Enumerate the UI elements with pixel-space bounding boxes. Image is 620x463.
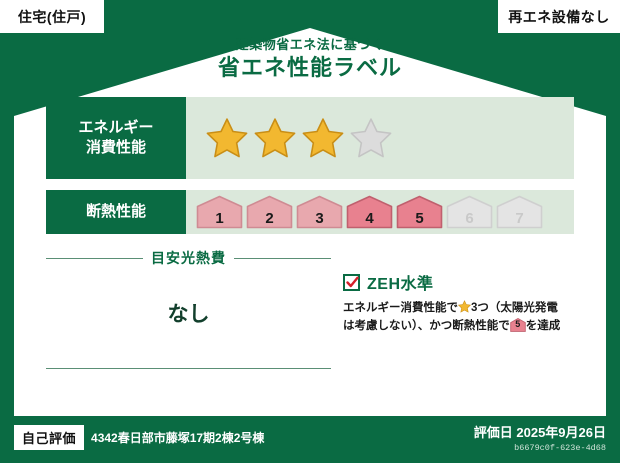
insulation-level-number: 4 <box>346 210 393 227</box>
inline-insulation-badge: 5 <box>510 318 526 332</box>
lower-section: 目安光熱費 なし ZEH水準 エネルギー消費性能で 3つ（太陽光発電 <box>46 248 574 369</box>
evaluation-date: 評価日 2025年9月26日 <box>474 422 606 441</box>
divider-line-right <box>234 258 331 259</box>
zeh-description: エネルギー消費性能で 3つ（太陽光発電 は考慮しない）、かつ断熱性能で 5を達成 <box>343 300 574 336</box>
zeh-desc-part3: を達成 <box>526 320 561 332</box>
insulation-level-number: 5 <box>396 210 443 227</box>
star-filled-icon <box>206 117 248 159</box>
zeh-title: ZEH水準 <box>367 270 434 294</box>
self-evaluation-badge: 自己評価 <box>14 425 84 450</box>
property-address: 4342春日部市藤塚17期2棟2号棟 <box>91 429 264 446</box>
energy-performance-row: エネルギー 消費性能 <box>46 97 574 179</box>
insulation-level-7: 7 <box>496 195 543 229</box>
star-rating <box>206 117 392 159</box>
insulation-level-4: 4 <box>346 195 393 229</box>
label-hash-id: b6679c0f-623e-4d68 <box>474 443 606 453</box>
label-title-block: 建築物省エネ法に基づく 省エネ性能ラベル <box>0 38 620 82</box>
zeh-desc-star-count: 3つ（太陽光発電 <box>471 302 558 314</box>
divider-line-left <box>46 258 143 259</box>
zeh-checkbox[interactable] <box>343 274 360 291</box>
energy-performance-label: エネルギー 消費性能 <box>46 97 186 179</box>
insulation-level-2: 2 <box>246 195 293 229</box>
utility-cost-block: 目安光熱費 なし <box>46 248 331 369</box>
utility-cost-divider: 目安光熱費 <box>46 248 331 268</box>
inline-insulation-badge-number: 5 <box>510 318 526 332</box>
check-icon <box>346 276 359 289</box>
footer-right-group: 評価日 2025年9月26日 b6679c0f-623e-4d68 <box>474 422 606 453</box>
zeh-block: ZEH水準 エネルギー消費性能で 3つ（太陽光発電 は考慮しない）、かつ断熱性能… <box>331 248 574 369</box>
label-type-tag: 住宅(住戸) <box>0 0 104 33</box>
star-filled-icon <box>254 117 296 159</box>
insulation-label-text: 断熱性能 <box>86 202 146 222</box>
insulation-level-1: 1 <box>196 195 243 229</box>
insulation-level-3: 3 <box>296 195 343 229</box>
label-type-text: 住宅(住戸) <box>18 7 86 27</box>
renewable-equipment-text: 再エネ設備なし <box>508 7 610 27</box>
energy-label-line2: 消費性能 <box>86 138 146 158</box>
utility-cost-value: なし <box>46 268 331 328</box>
title-subtitle: 建築物省エネ法に基づく <box>0 38 620 52</box>
renewable-equipment-tag: 再エネ設備なし <box>498 0 620 33</box>
insulation-performance-label: 断熱性能 <box>46 190 186 234</box>
insulation-level-number: 2 <box>246 210 293 227</box>
footer-left-group: 自己評価 4342春日部市藤塚17期2棟2号棟 <box>14 425 264 450</box>
insulation-level-5: 5 <box>396 195 443 229</box>
insulation-level-scale: 1234567 <box>196 195 543 229</box>
zeh-desc-part2: は考慮しない）、かつ断熱性能で <box>343 320 510 332</box>
utility-cost-caption: 目安光熱費 <box>151 248 226 268</box>
star-filled-icon <box>302 117 344 159</box>
title-main: 省エネ性能ラベル <box>0 55 620 81</box>
insulation-performance-value: 1234567 <box>186 190 574 234</box>
star-empty-icon <box>350 117 392 159</box>
inline-star-icon <box>458 300 471 313</box>
label-footer: 自己評価 4342春日部市藤塚17期2棟2号棟 評価日 2025年9月26日 b… <box>0 416 620 463</box>
insulation-performance-row: 断熱性能 1234567 <box>46 190 574 234</box>
insulation-level-number: 6 <box>446 210 493 227</box>
zeh-desc-part1: エネルギー消費性能で <box>343 302 458 314</box>
insulation-level-number: 7 <box>496 210 543 227</box>
label-body: エネルギー 消費性能 断熱性能 1234567 目安光熱費 なし <box>46 97 574 407</box>
insulation-level-6: 6 <box>446 195 493 229</box>
energy-performance-value <box>186 97 574 179</box>
utility-cost-bottom-rule <box>46 368 331 369</box>
energy-label-line1: エネルギー <box>78 118 153 138</box>
insulation-level-number: 3 <box>296 210 343 227</box>
zeh-heading: ZEH水準 <box>343 270 574 294</box>
insulation-level-number: 1 <box>196 210 243 227</box>
